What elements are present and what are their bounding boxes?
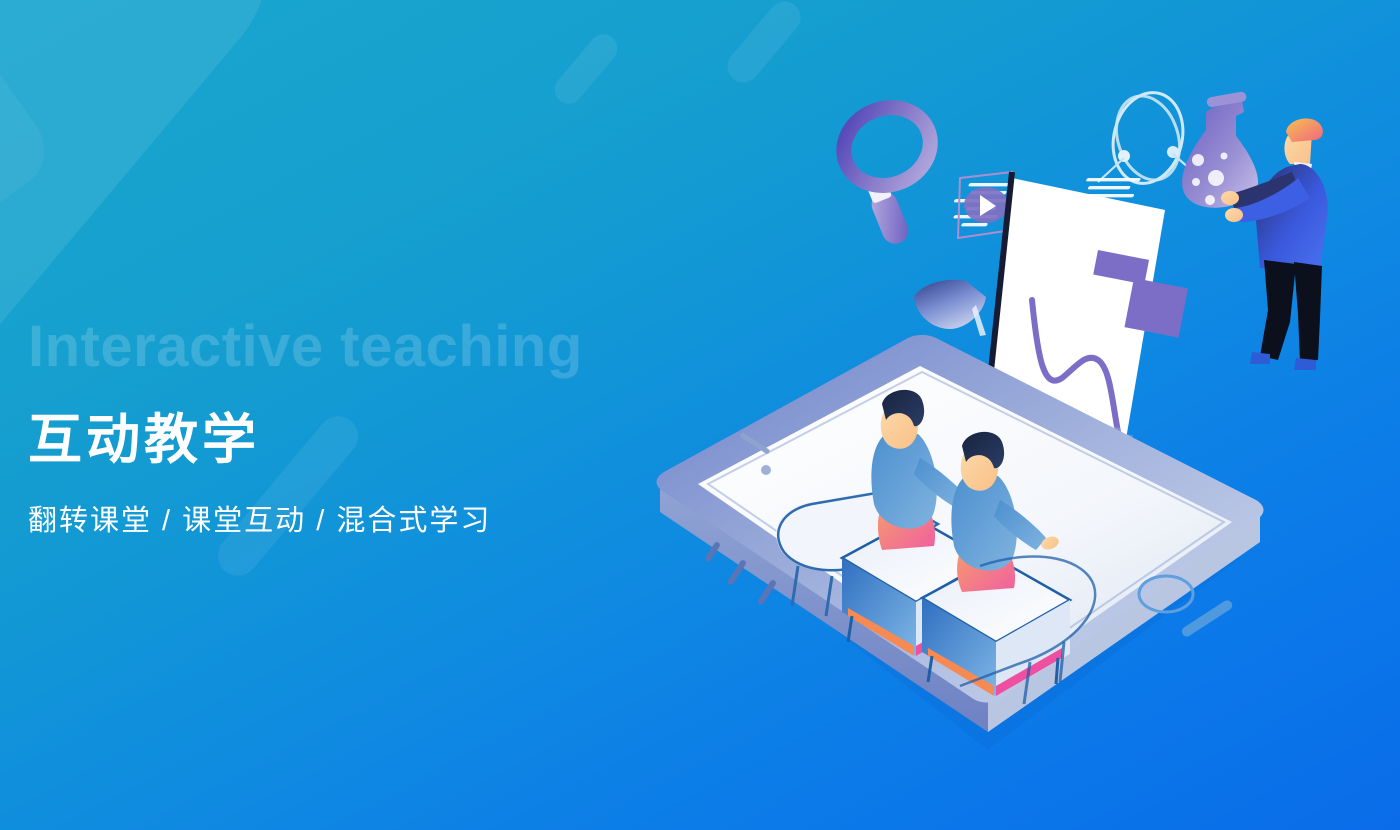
chart-block-large: [1124, 278, 1188, 338]
capsule-small-a: [549, 29, 623, 110]
illustration: [620, 60, 1400, 820]
graduation-cap-icon: [914, 280, 986, 336]
tablet-camera: [761, 465, 771, 475]
banner-text-block: Interactive teaching 互动教学 翻转课堂 / 课堂互动 / …: [28, 318, 583, 539]
ghost-title: Interactive teaching: [28, 318, 583, 376]
magnifier-icon: [832, 95, 963, 250]
hero-banner: Interactive teaching 互动教学 翻转课堂 / 课堂互动 / …: [0, 0, 1400, 830]
banner-subtitle: 翻转课堂 / 课堂互动 / 混合式学习: [28, 497, 583, 539]
page-title: 互动教学: [28, 412, 583, 469]
teacher-with-flask: [1182, 91, 1328, 370]
